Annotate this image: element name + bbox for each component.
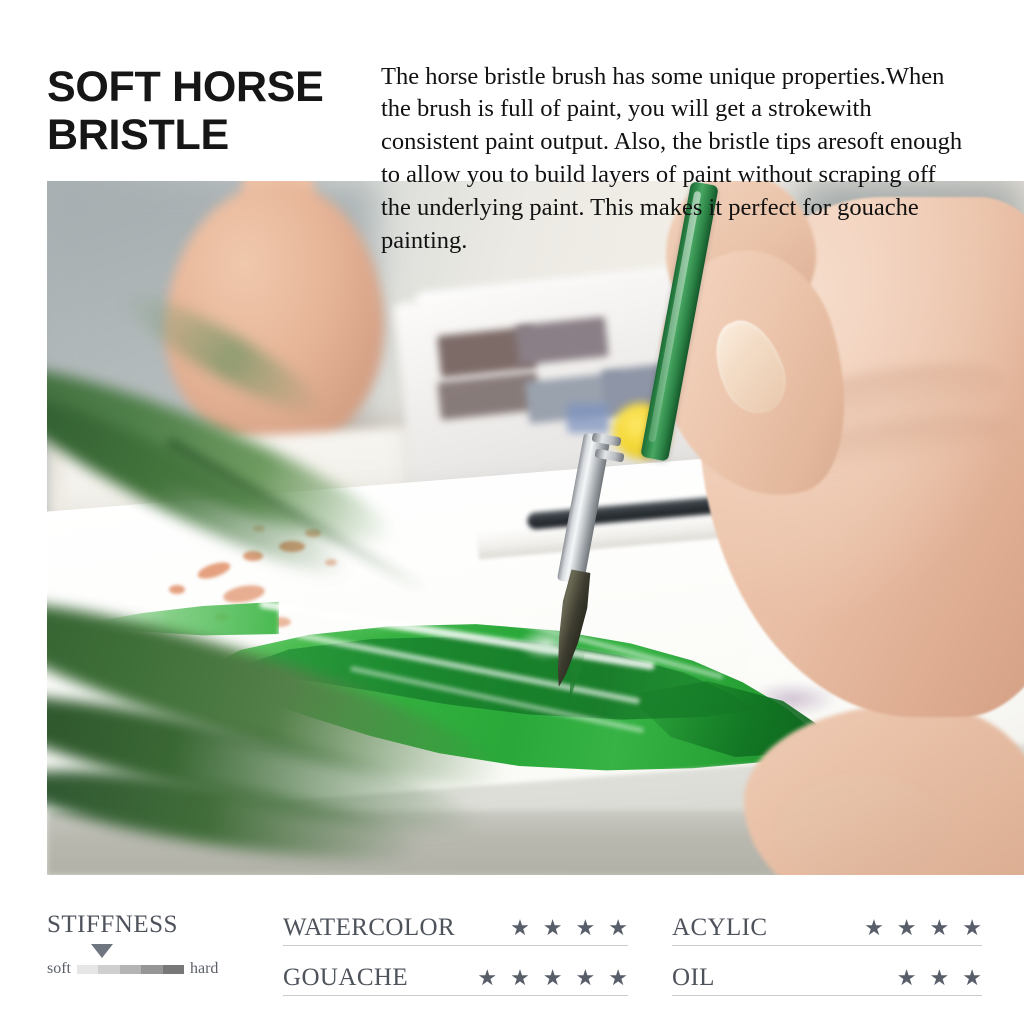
star-icon: ★ — [543, 917, 563, 939]
star-icon: ★ — [897, 967, 917, 989]
ratings-column-left: WATERCOLOR★★★★GOUACHE★★★★★ — [283, 908, 628, 1008]
stiffness-segment — [163, 965, 184, 974]
spec-row: GOUACHE★★★★★ — [283, 958, 628, 996]
spec-name: GOUACHE — [283, 965, 408, 990]
page-title: SOFT HORSE BRISTLE — [47, 63, 367, 160]
stiffness-label: STIFFNESS — [47, 912, 242, 937]
star-icon: ★ — [608, 917, 628, 939]
star-icon: ★ — [864, 917, 884, 939]
star-icon: ★ — [608, 967, 628, 989]
stiffness-gradient-bar — [77, 965, 184, 974]
stiffness-segment — [98, 965, 119, 974]
second-hand-fingers — [778, 775, 948, 875]
paintbrush — [562, 181, 732, 819]
spec-row: OIL★★★ — [672, 958, 982, 996]
star-icon: ★ — [576, 967, 596, 989]
ratings-column-right: ACYLIC★★★★OIL★★★ — [672, 908, 982, 1008]
spec-row: ACYLIC★★★★ — [672, 908, 982, 946]
star-icon: ★ — [510, 967, 530, 989]
stiffness-soft-label: soft — [47, 960, 71, 978]
stiffness-pointer-icon — [91, 944, 113, 958]
product-photo — [47, 181, 1024, 875]
star-icon: ★ — [510, 917, 530, 939]
product-description: The horse bristle brush has some unique … — [381, 61, 964, 259]
star-icon: ★ — [930, 917, 950, 939]
stiffness-segment — [77, 965, 98, 974]
star-icon: ★ — [897, 917, 917, 939]
star-icon: ★ — [962, 967, 982, 989]
star-icon: ★ — [477, 967, 497, 989]
stiffness-hard-label: hard — [190, 960, 218, 978]
spec-bar: STIFFNESS soft hard WATERCOLOR★★★★GOUACH… — [0, 898, 1024, 1024]
star-icon: ★ — [930, 967, 950, 989]
spec-name: WATERCOLOR — [283, 915, 455, 940]
spec-row: WATERCOLOR★★★★ — [283, 908, 628, 946]
spec-name: ACYLIC — [672, 915, 767, 940]
stiffness-scale: soft hard — [47, 960, 242, 990]
star-icon: ★ — [543, 967, 563, 989]
star-icon: ★ — [962, 917, 982, 939]
star-icon: ★ — [576, 917, 596, 939]
stiffness-block: STIFFNESS soft hard — [47, 912, 242, 990]
spec-name: OIL — [672, 965, 715, 990]
star-rating: ★★★★ — [864, 917, 982, 940]
stiffness-segment — [141, 965, 162, 974]
star-rating: ★★★★★ — [477, 967, 628, 990]
star-rating: ★★★ — [897, 967, 982, 990]
infographic-page: SOFT HORSE BRISTLE The horse bristle bru… — [0, 0, 1024, 1024]
star-rating: ★★★★ — [510, 917, 628, 940]
stiffness-segment — [120, 965, 141, 974]
paint-splatter — [169, 585, 185, 594]
